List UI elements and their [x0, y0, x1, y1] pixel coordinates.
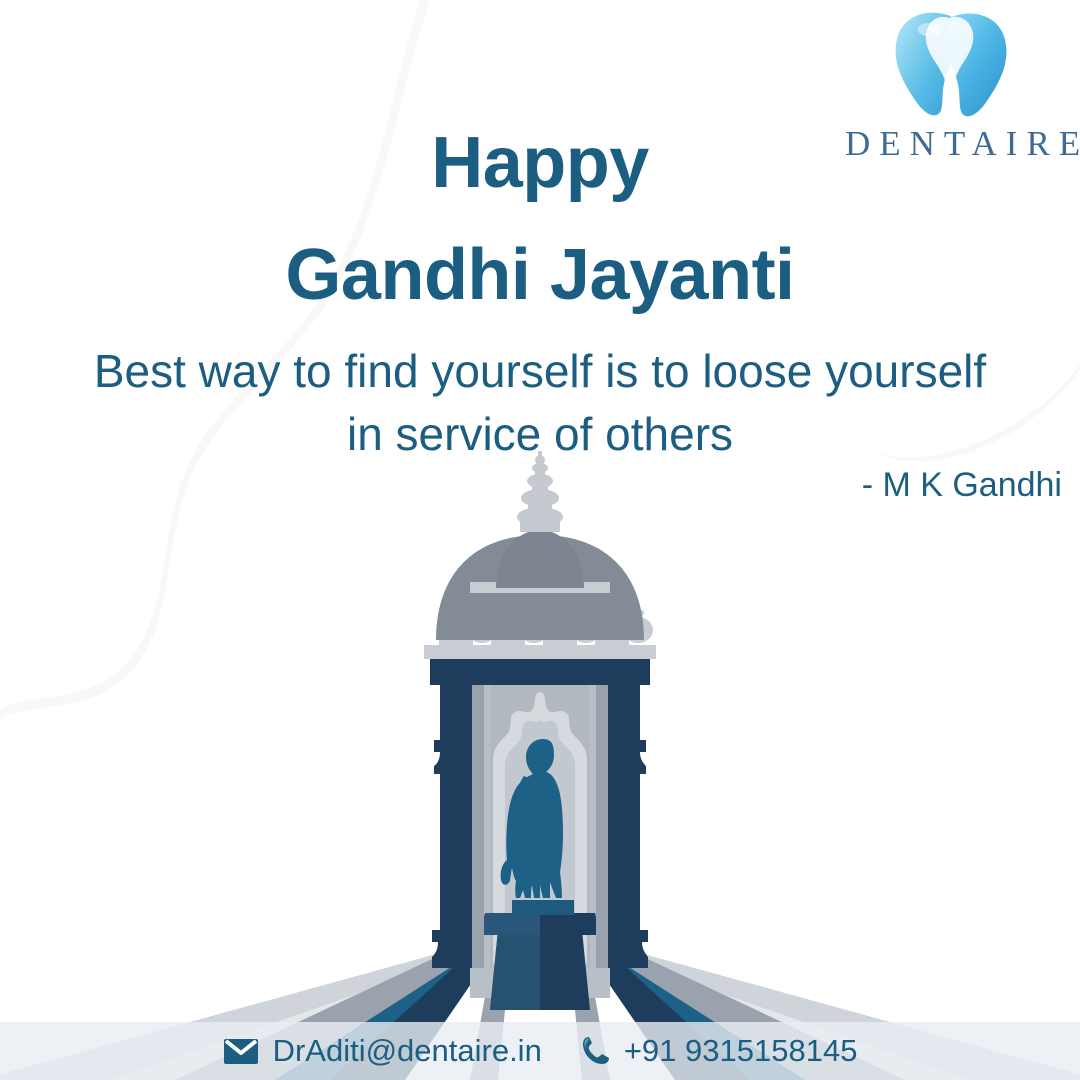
poster-canvas: DENTAIRE Happy Gandhi Jayanti Best way t… [0, 0, 1080, 1080]
contact-phone[interactable]: +91 9315158145 [580, 1033, 858, 1069]
gandhi-statue-monument [0, 0, 1080, 1080]
phone-text: +91 9315158145 [624, 1033, 858, 1069]
email-text: DrAditi@dentaire.in [273, 1033, 542, 1069]
phone-icon [580, 1035, 610, 1067]
contact-bar: DrAditi@dentaire.in +91 9315158145 [0, 1022, 1080, 1080]
entablature [430, 655, 650, 685]
cornice-slab [424, 645, 656, 659]
dome-finial [517, 451, 563, 532]
contact-email[interactable]: DrAditi@dentaire.in [223, 1033, 542, 1069]
envelope-icon [223, 1037, 259, 1065]
